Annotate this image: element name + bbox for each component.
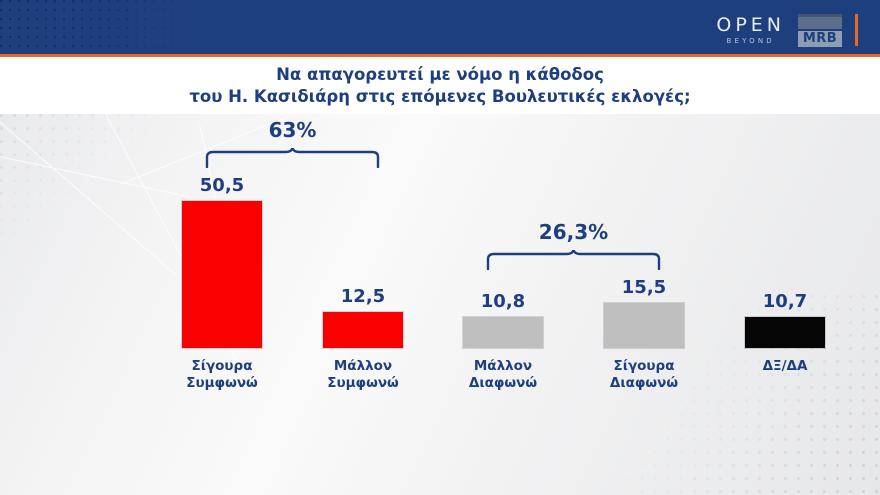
bar-label-line2-2: Συμφωνώ — [288, 375, 438, 392]
brand-lockup: OPEN BEYOND MRB — [716, 13, 858, 47]
bar-label-2: ΜάλλονΣυμφωνώ — [288, 358, 438, 393]
bar-label-5: ΔΞ/ΔΑ — [710, 358, 860, 375]
bar-label-line1-2: Μάλλον — [288, 358, 438, 375]
bar-1 — [182, 201, 262, 348]
open-beyond-logo: OPEN BEYOND — [716, 16, 785, 45]
title-line-1: Να απαγορευτεί με νόμο η κάθοδος — [276, 64, 604, 86]
poll-result-slide: OPEN BEYOND MRB Να απαγορευτεί με νόμο η… — [0, 0, 880, 495]
title-line-2: του Η. Κασιδιάρη στις επόμενες Βουλευτικ… — [189, 86, 690, 108]
bar-value-3: 10,8 — [443, 291, 563, 312]
bar-value-2: 12,5 — [303, 286, 423, 307]
bar-label-4: ΣίγουραΔιαφωνώ — [569, 358, 719, 393]
mrb-logo: MRB — [798, 14, 842, 47]
bar-label-1: ΣίγουραΣυμφωνώ — [147, 358, 297, 393]
brace-group-1 — [204, 148, 381, 168]
bar-label-line2-3: Διαφωνώ — [428, 375, 578, 392]
background-dot-texture-right — [550, 295, 880, 495]
bar-chart: 50,5ΣίγουραΣυμφωνώ12,5ΜάλλονΣυμφωνώ10,8Μ… — [0, 114, 880, 495]
bar-2 — [323, 312, 403, 348]
beyond-wordmark: BEYOND — [726, 38, 774, 45]
background-dot-texture-left — [0, 114, 150, 234]
orange-accent-bar — [855, 14, 858, 46]
question-title: Να απαγορευτεί με νόμο η κάθοδος του Η. … — [0, 57, 880, 114]
open-wordmark: OPEN — [716, 16, 785, 35]
bar-label-line2-4: Διαφωνώ — [569, 375, 719, 392]
brace-value-2: 26,3% — [474, 220, 674, 244]
bar-value-4: 15,5 — [584, 277, 704, 298]
bar-value-1: 50,5 — [162, 175, 282, 196]
brace-group-2 — [485, 250, 662, 270]
bar-label-line1-1: Σίγουρα — [147, 358, 297, 375]
bar-label-line1-4: Σίγουρα — [569, 358, 719, 375]
bar-4 — [604, 303, 684, 348]
bar-value-5: 10,7 — [725, 291, 845, 312]
header-bar: OPEN BEYOND MRB — [0, 0, 880, 57]
brace-icon — [485, 250, 662, 270]
bar-label-line2-1: Συμφωνώ — [147, 375, 297, 392]
brace-icon — [204, 148, 381, 168]
brace-value-1: 63% — [193, 118, 393, 142]
bar-5 — [745, 317, 825, 348]
mrb-wordmark: MRB — [798, 31, 842, 47]
bar-label-3: ΜάλλονΔιαφωνώ — [428, 358, 578, 393]
mrb-logo-top-block — [798, 14, 842, 29]
bar-label-line1-5: ΔΞ/ΔΑ — [710, 358, 860, 375]
bar-3 — [463, 317, 543, 348]
bar-label-line1-3: Μάλλον — [428, 358, 578, 375]
